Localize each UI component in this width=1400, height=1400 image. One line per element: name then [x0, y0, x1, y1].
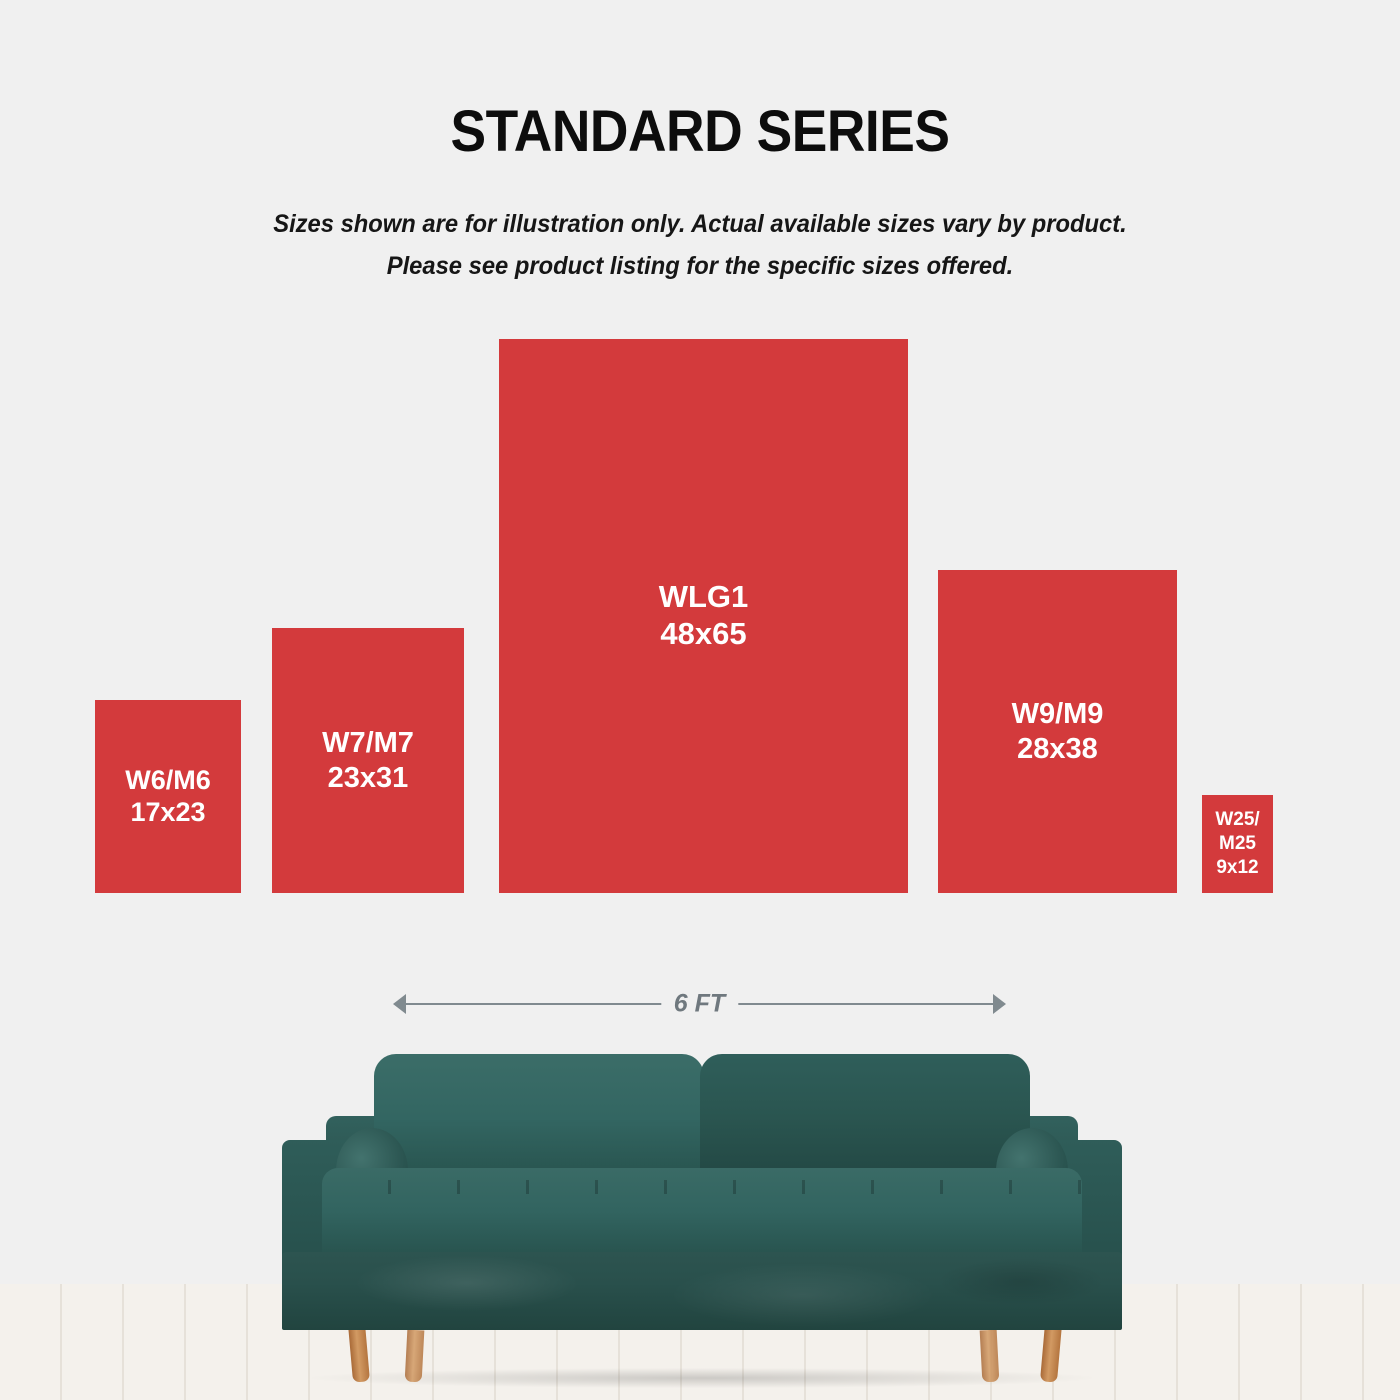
size-frame-w7-dimensions: 23x31	[328, 761, 409, 795]
disclaimer-line-1: Sizes shown are for illustration only. A…	[35, 203, 1365, 245]
size-frame-w6-dimensions: 17x23	[130, 797, 205, 829]
disclaimer-text: Sizes shown are for illustration only. A…	[35, 203, 1365, 287]
sofa-back-cushion-right	[700, 1054, 1030, 1182]
sofa-leg	[405, 1330, 425, 1383]
sofa-seat-cushion	[322, 1168, 1082, 1264]
size-frame-w7-code: W7/M7	[322, 726, 414, 760]
size-frame-w9[interactable]: W9/M9 28x38	[938, 570, 1177, 893]
scale-dimension-label: 6 FT	[661, 986, 738, 1023]
scale-dimension-arrow: 6 FT	[393, 988, 1006, 1020]
size-guide-page: STANDARD SERIES Sizes shown are for illu…	[0, 0, 1400, 1400]
size-frame-w25[interactable]: W25/ M25 9x12	[1202, 795, 1273, 893]
size-frame-wlg1-dimensions: 48x65	[660, 616, 746, 653]
sofa-back-cushion-left	[374, 1054, 704, 1182]
size-frame-w6-code: W6/M6	[125, 765, 211, 797]
size-frame-w25-dimensions: 9x12	[1216, 856, 1258, 880]
size-frame-w7[interactable]: W7/M7 23x31	[272, 628, 464, 893]
size-frame-wlg1[interactable]: WLG1 48x65	[499, 339, 908, 893]
disclaimer-line-2: Please see product listing for the speci…	[35, 245, 1365, 287]
sofa-shadow	[312, 1368, 1092, 1388]
size-frame-w25-code: W25/ M25	[1215, 808, 1259, 856]
sofa-base	[282, 1252, 1122, 1330]
room-scene	[0, 1040, 1400, 1400]
page-title: STANDARD SERIES	[56, 98, 1344, 165]
size-frame-w6[interactable]: W6/M6 17x23	[95, 700, 241, 893]
size-frame-w9-dimensions: 28x38	[1017, 732, 1098, 766]
size-frame-wlg1-code: WLG1	[659, 579, 749, 616]
sofa-illustration	[282, 1052, 1122, 1382]
sofa-leg	[980, 1330, 1000, 1383]
arrow-right-icon	[993, 994, 1006, 1014]
size-frame-w9-code: W9/M9	[1012, 697, 1104, 731]
